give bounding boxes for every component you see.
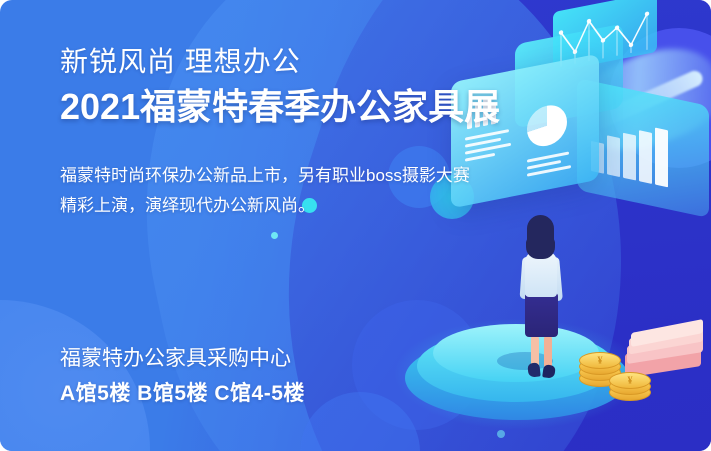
figure-hair [527,215,554,251]
banner-footer-block: 福蒙特办公家具采购中心 A馆5楼 B馆5楼 C馆4-5楼 [60,345,305,410]
figure-skirt [525,293,558,337]
figure-shoe-left [527,362,540,377]
hall-locations: A馆5楼 B馆5楼 C馆4-5楼 [60,379,305,409]
banner-kicker: 新锐风尚 理想办公 [60,44,480,79]
front-panel-pie-chart [527,102,567,150]
front-panel-text-lines-right [527,150,575,180]
banner-body-text: 福蒙特时尚环保办公新品上市，另有职业boss摄影大赛精彩上演，演绎现代办公新风尚… [60,161,480,221]
banner-headline: 2021福蒙特春季办公家具展 [60,85,480,129]
background-circle-low [300,392,420,451]
background-dot-small-1 [271,232,278,239]
right-panel-bar-chart [591,115,668,187]
coin-currency-symbol: ¥ [598,355,603,366]
venue-name: 福蒙特办公家具采购中心 [60,345,305,373]
promo-banner: ¥ ¥ 新锐风尚 理想办公 2021福蒙特春季办公家具展 福蒙特时尚环保办公新品… [0,0,711,451]
banner-copy-block: 新锐风尚 理想办公 2021福蒙特春季办公家具展 福蒙特时尚环保办公新品上市，另… [60,44,480,220]
coin-currency-symbol-2: ¥ [628,375,633,386]
business-woman-figure [511,215,571,375]
